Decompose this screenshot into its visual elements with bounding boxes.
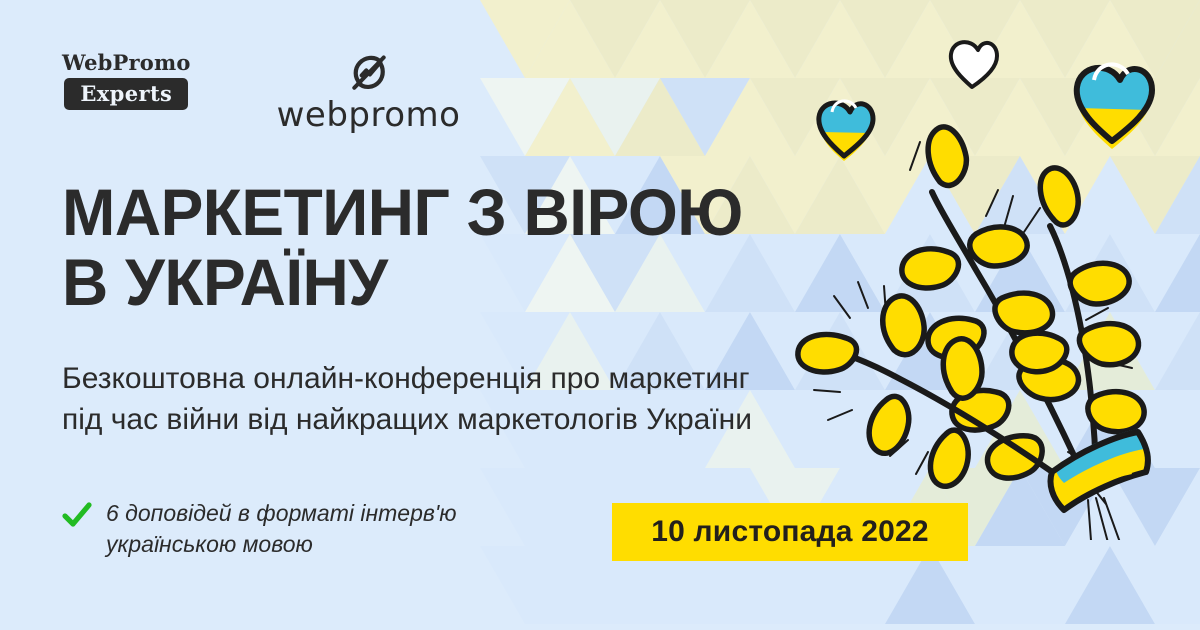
logo-row: WebPromo Experts webpromo: [62, 52, 460, 132]
subtitle: Безкоштовна онлайн-конференція про марке…: [62, 358, 892, 441]
subtitle-line-1: Безкоштовна онлайн-конференція про марке…: [62, 362, 750, 395]
bullet-line-2: українською мовою: [106, 531, 313, 557]
webpromo-logo[interactable]: webpromo: [277, 52, 461, 132]
wheat-stalk-right: [1012, 168, 1144, 490]
subtitle-line-2: під час війни від найкращих маркетологів…: [62, 403, 752, 436]
webpromo-circle-chart-mark: [347, 52, 391, 96]
bullet-line-1: 6 доповідей в форматі інтерв'ю: [106, 500, 457, 526]
heart-ukraine-large: [1077, 64, 1152, 149]
date-badge[interactable]: 10 листопада 2022: [612, 503, 968, 561]
heart-ukraine-small: [819, 101, 873, 161]
wheat-bouquet-illustration: .ink { fill:none; stroke:#1a1a1a; stroke…: [790, 20, 1200, 540]
wheat-stalk-center: [902, 127, 1090, 490]
heart-white-outline: [951, 42, 997, 87]
date-badge-text: 10 листопада 2022: [651, 515, 929, 549]
ribbon-blue-yellow: [1051, 429, 1148, 510]
sparkle-lines: [810, 136, 1132, 504]
stem-ends: [1088, 498, 1122, 540]
webpromo-wordmark: webpromo: [277, 98, 461, 132]
webpromo-experts-word: WebPromo: [62, 52, 191, 73]
check-icon: [62, 501, 92, 529]
feature-bullet: 6 доповідей в форматі інтерв'ю українськ…: [62, 498, 562, 560]
headline-line-1: МАРКЕТИНГ З ВІРОЮ: [62, 175, 743, 249]
promo-banner: .ty { fill:#f2f0cd; } .ty2{ fill:#ecebc9…: [0, 0, 1200, 630]
headline-line-2: В УКРАЇНУ: [62, 245, 388, 319]
webpromo-experts-logo[interactable]: WebPromo Experts: [62, 52, 191, 110]
feature-bullet-text: 6 доповідей в форматі інтерв'ю українськ…: [106, 498, 457, 560]
webpromo-experts-badge: Experts: [64, 78, 188, 110]
page-title: МАРКЕТИНГ З ВІРОЮ В УКРАЇНУ: [62, 178, 838, 318]
